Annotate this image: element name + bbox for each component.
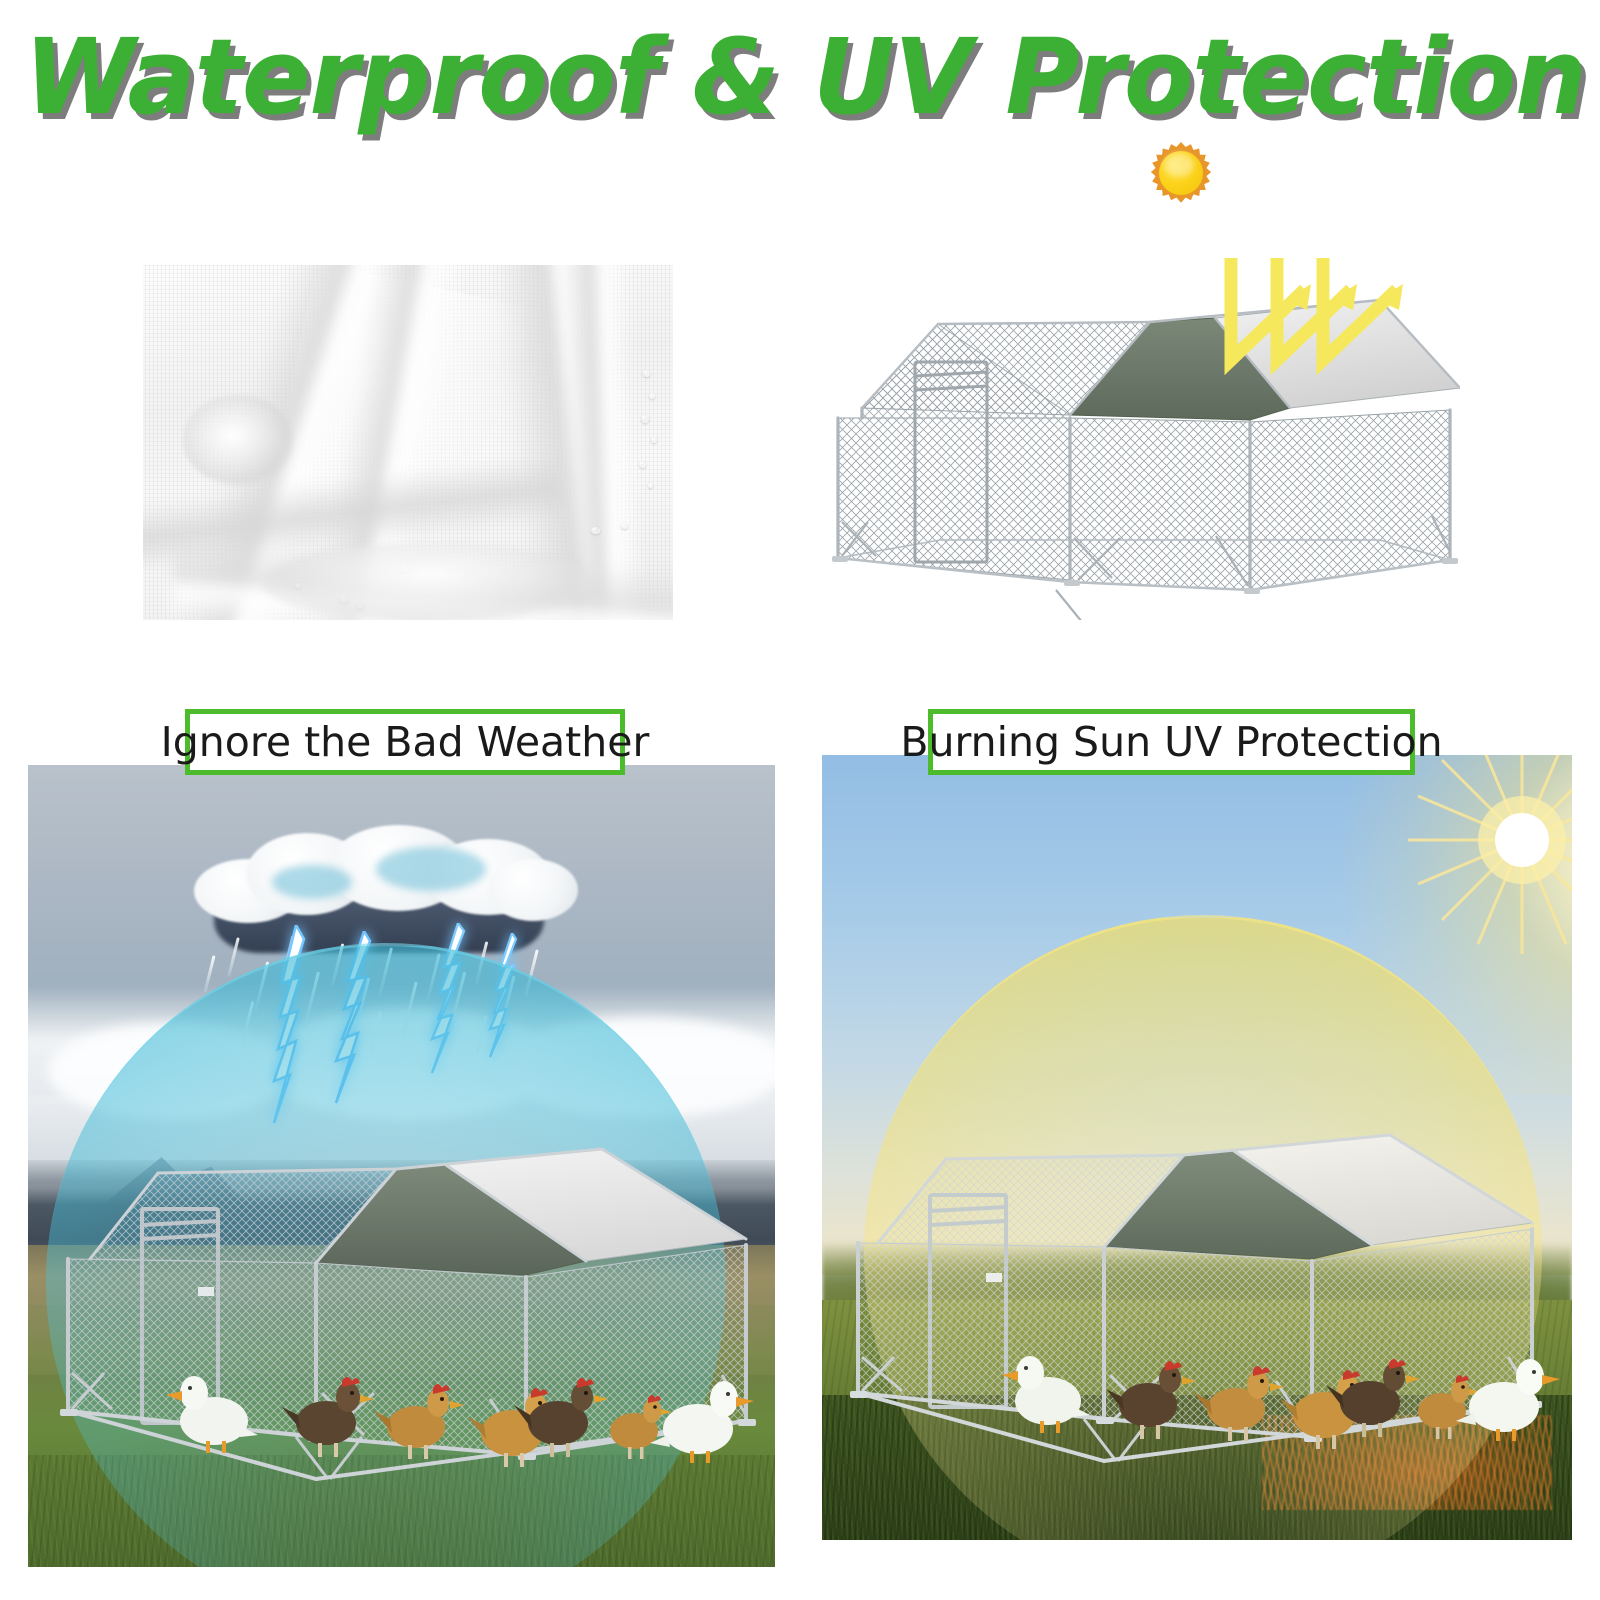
water-droplet — [639, 461, 646, 468]
page-title-text: Waterproof & UV Protection — [24, 16, 1586, 138]
cloud-tint — [272, 865, 352, 899]
cloud-tint — [376, 847, 486, 891]
label-text-burning-sun-uv-protection: Burning Sun UV Protection — [900, 722, 1442, 763]
water-smear — [263, 543, 593, 620]
sun-burst-icon — [1402, 755, 1572, 960]
label-box-burning-sun-uv-protection: Burning Sun UV Protection — [928, 709, 1415, 775]
water-droplet — [591, 527, 600, 534]
water-smear — [183, 395, 293, 485]
water-droplet — [621, 523, 628, 529]
water-droplet — [648, 483, 653, 488]
uv-rays-reflecting-arrows — [1185, 258, 1415, 388]
chicken-coop-uv-protection — [842, 1125, 1562, 1515]
panel-uv-protection — [822, 755, 1572, 1540]
water-droplet — [643, 370, 650, 377]
page-title: Waterproof & UV Protection — [0, 16, 1600, 136]
label-box-ignore-bad-weather: Ignore the Bad Weather — [185, 709, 625, 775]
water-droplet — [649, 393, 655, 399]
label-text-ignore-bad-weather: Ignore the Bad Weather — [161, 722, 650, 763]
water-droplet — [651, 437, 657, 443]
waterproof-fabric-swatch — [143, 265, 673, 620]
chicken-coop-bad-weather — [46, 1135, 775, 1555]
sun-gloss — [1164, 153, 1194, 177]
water-droplet — [641, 415, 649, 423]
cloud-puff — [488, 859, 578, 921]
sun-icon — [1150, 142, 1212, 204]
panel-bad-weather — [28, 765, 775, 1567]
